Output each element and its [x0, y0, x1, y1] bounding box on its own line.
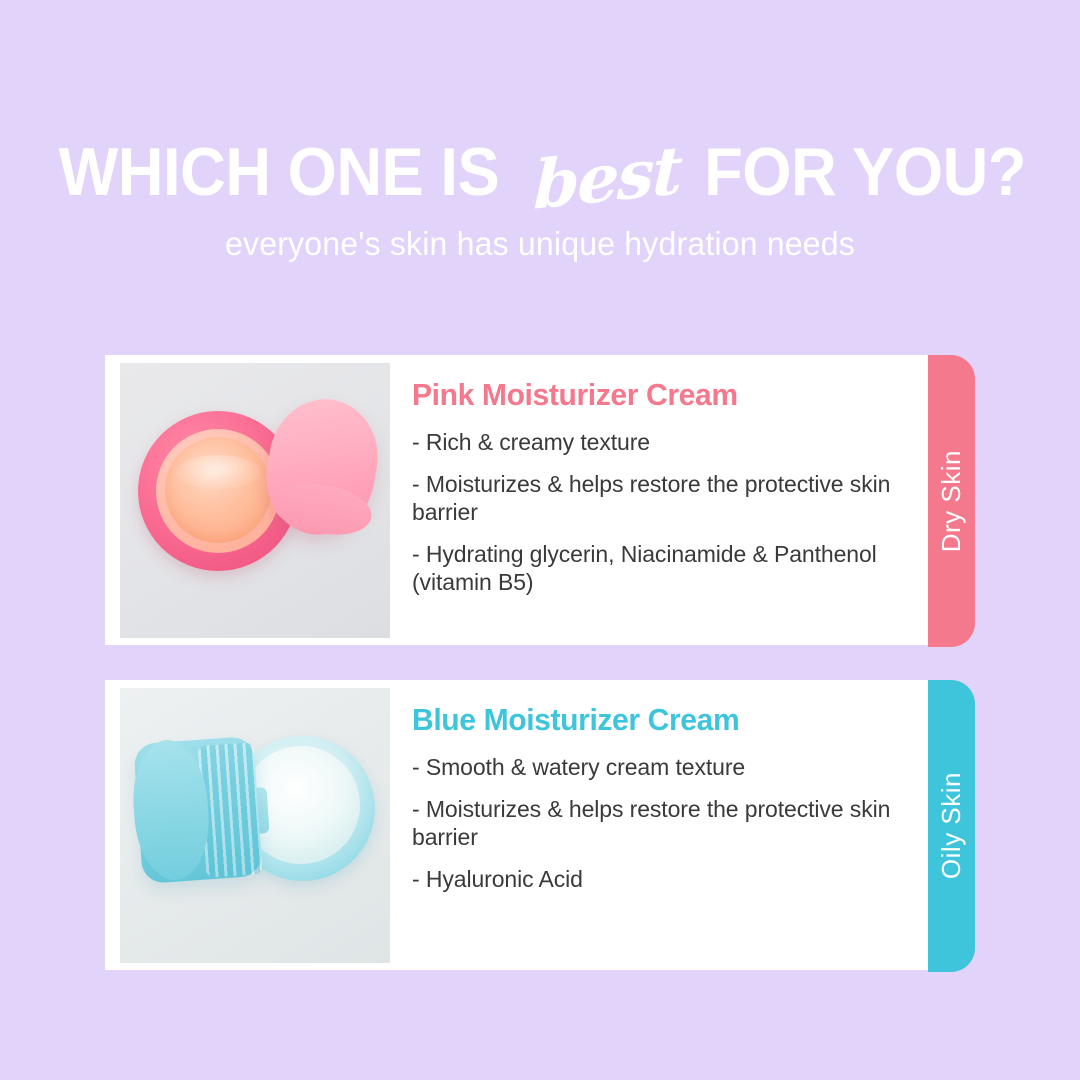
page-subtitle: everyone's skin has unique hydration nee…	[16, 225, 1064, 263]
product-feature-item: - Rich & creamy texture	[412, 428, 898, 456]
skin-type-tab-label: Oily Skin	[936, 772, 967, 879]
card-body-blue: Blue Moisturizer Cream - Smooth & watery…	[390, 680, 928, 970]
skin-type-tab-oily[interactable]: Oily Skin	[928, 680, 975, 972]
product-feature-item: - Moisturizes & helps restore the protec…	[412, 795, 898, 851]
headline-text-after: FOR YOU?	[704, 133, 1026, 211]
skin-type-tab-label: Dry Skin	[936, 450, 967, 552]
product-card-blue[interactable]: Blue Moisturizer Cream - Smooth & watery…	[105, 680, 928, 970]
product-feature-item: - Smooth & watery cream texture	[412, 753, 898, 781]
headline-text-before: WHICH ONE IS	[59, 133, 500, 211]
product-title-pink: Pink Moisturizer Cream	[412, 377, 883, 413]
card-body-pink: Pink Moisturizer Cream - Rich & creamy t…	[390, 355, 928, 645]
headline-script-word: best	[532, 131, 682, 225]
blue-moisturizer-jar-image	[120, 688, 390, 963]
jar-cream-highlight	[176, 455, 260, 489]
jar-cream-shape	[165, 437, 271, 543]
product-feature-item: - Hyaluronic Acid	[412, 865, 898, 893]
product-feature-item: - Hydrating glycerin, Niacinamide & Pant…	[412, 540, 898, 596]
product-feature-item: - Moisturizes & helps restore the protec…	[412, 470, 898, 526]
product-card-pink[interactable]: Pink Moisturizer Cream - Rich & creamy t…	[105, 355, 928, 645]
page-headline: WHICH ONE ISbestFOR YOU?	[0, 133, 1080, 211]
product-title-blue: Blue Moisturizer Cream	[412, 702, 883, 738]
pink-moisturizer-jar-image	[120, 363, 390, 638]
skin-type-tab-dry[interactable]: Dry Skin	[928, 355, 975, 647]
page-header: WHICH ONE ISbestFOR YOU? everyone's skin…	[0, 0, 1080, 263]
